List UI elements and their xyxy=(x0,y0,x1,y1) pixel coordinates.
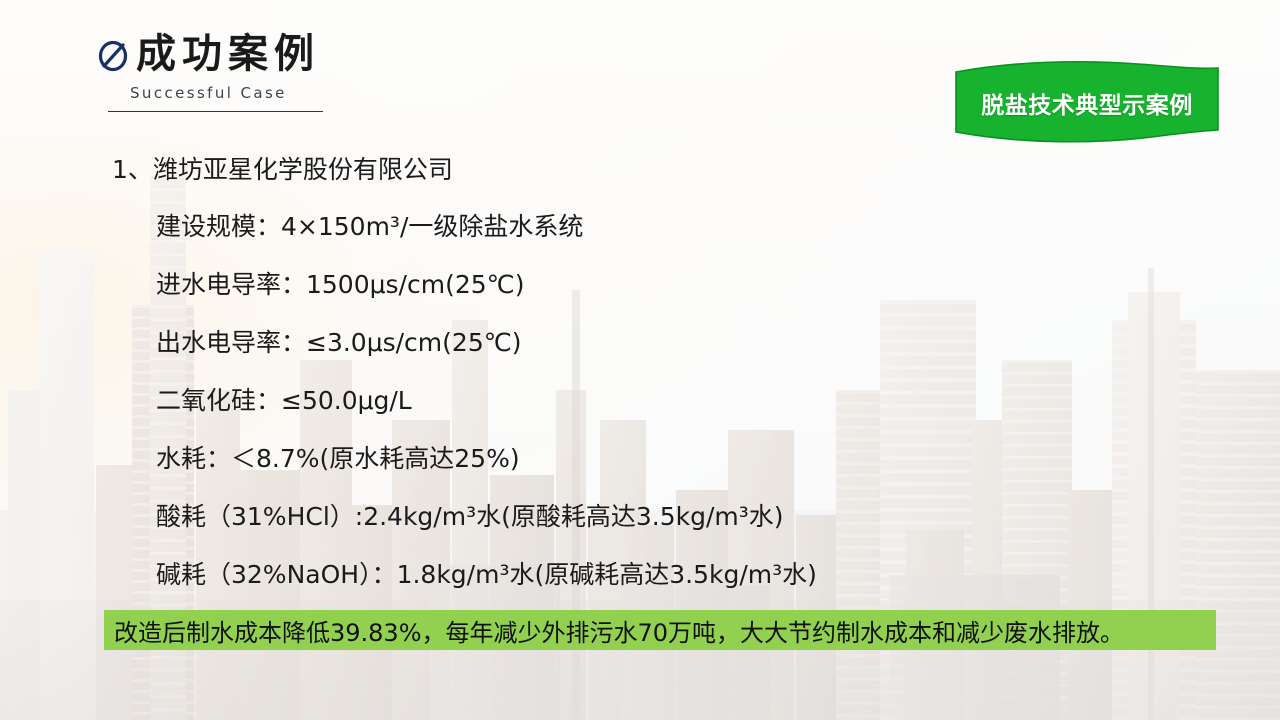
title-divider xyxy=(108,111,323,112)
list-item: 水耗：＜8.7%(原水耗高达25%) xyxy=(112,430,1212,488)
flag-banner-label: 脱盐技术典型示案例 xyxy=(952,86,1222,120)
page-subtitle: Successful Case xyxy=(130,84,516,102)
list-item: 建设规模：4×150m³/一级除盐水系统 xyxy=(112,198,1212,256)
slide-canvas: 成功案例 Successful Case 脱盐技术典型示案例 1、潍坊亚星化学股… xyxy=(0,0,1280,720)
list-item: 酸耗（31%HCl）:2.4kg/m³水(原酸耗高达3.5kg/m³水) xyxy=(112,488,1212,546)
conclusion-highlight-bar: 改造后制水成本降低39.83%，每年减少外排污水70万吨，大大节约制水成本和减少… xyxy=(104,610,1216,650)
flag-banner: 脱盐技术典型示案例 xyxy=(952,58,1222,146)
title-row: 成功案例 xyxy=(96,34,516,74)
circle-slash-icon xyxy=(96,39,130,73)
list-item: 二氧化硅：≤50.0μg/L xyxy=(112,372,1212,430)
page-title-block: 成功案例 Successful Case xyxy=(96,34,516,112)
conclusion-text: 改造后制水成本降低39.83%，每年减少外排污水70万吨，大大节约制水成本和减少… xyxy=(104,613,1124,648)
list-item: 碱耗（32%NaOH）：1.8kg/m³水(原碱耗高达3.5kg/m³水) xyxy=(112,546,1212,604)
case-detail-list: 1、潍坊亚星化学股份有限公司 建设规模：4×150m³/一级除盐水系统 进水电导… xyxy=(112,142,1212,604)
page-title: 成功案例 xyxy=(136,34,320,74)
list-item: 出水电导率：≤3.0μs/cm(25℃) xyxy=(112,314,1212,372)
case-heading: 1、潍坊亚星化学股份有限公司 xyxy=(112,142,1212,198)
list-item: 进水电导率：1500μs/cm(25℃) xyxy=(112,256,1212,314)
